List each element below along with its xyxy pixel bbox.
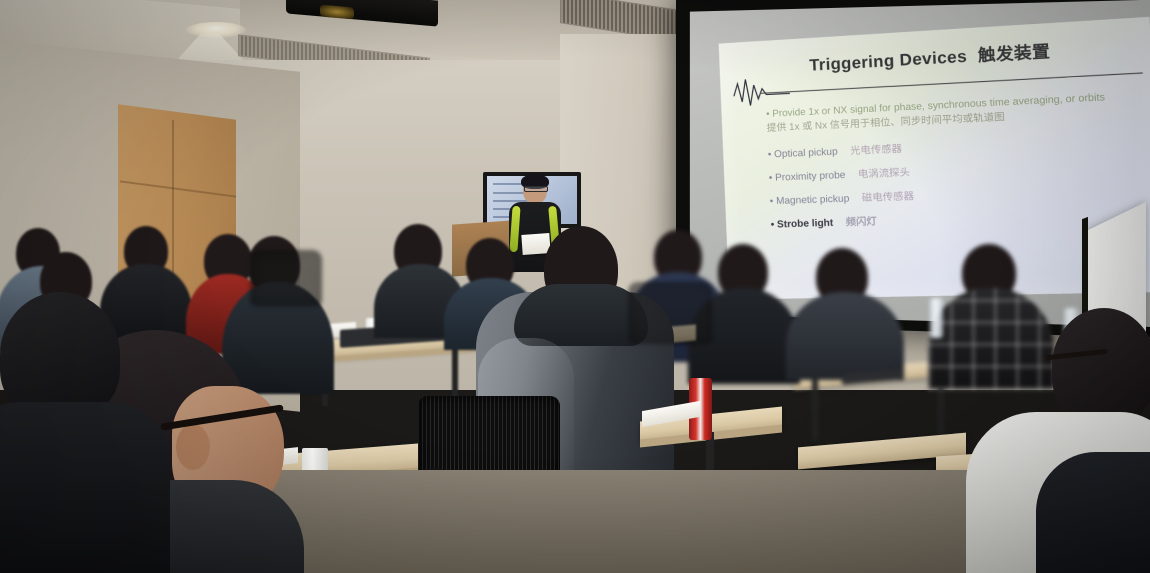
desk-leg [452, 348, 458, 398]
slide-bullet-2: • Proximity probe电涡流探头 [768, 155, 1128, 184]
fg2-head [0, 292, 120, 418]
fg3-head [1052, 308, 1150, 424]
presenter-glasses-icon [524, 186, 548, 192]
slide-title-cn: 触发装置 [978, 43, 1051, 65]
slide-bullet-1: • Optical pickup光电传感器 [767, 130, 1127, 160]
slide-title-en: Triggering Devices [809, 48, 968, 75]
foreground-attendee-dark [0, 292, 160, 573]
bullet-4-cn: 频闪灯 [846, 216, 877, 228]
bullet-4-en: Strobe light [777, 217, 834, 230]
bullet-1-cn: 光电传感器 [850, 143, 902, 157]
bullet-2-cn: 电涡流探头 [858, 167, 910, 180]
waveform-icon [732, 73, 790, 111]
desk-leg [812, 378, 818, 440]
bullet-3-cn: 磁电传感器 [862, 191, 915, 204]
slide-lead-bullet: • Provide 1x or NX signal for phase, syn… [766, 90, 1126, 137]
slide-title: Triggering Devices触发装置 [809, 37, 1051, 76]
office-chair [250, 250, 322, 306]
bullet-1-en: Optical pickup [774, 146, 838, 160]
foreground-attendee-right-dark [1036, 452, 1150, 573]
slide-bullet-4: • Strobe light频闪灯 [770, 205, 1130, 231]
slide-body: • Provide 1x or NX signal for phase, syn… [766, 90, 1131, 231]
classroom-photo: Triggering Devices触发装置 • Provide 1x or N… [0, 0, 1150, 573]
bullet-2-en: Proximity probe [775, 170, 846, 184]
office-chair [628, 282, 712, 344]
bullet-3-en: Magnetic pickup [776, 193, 850, 207]
fg2-body [0, 402, 170, 573]
fg-ear [176, 424, 210, 470]
slide-bullet-3: • Magnetic pickup磁电传感器 [769, 180, 1129, 207]
